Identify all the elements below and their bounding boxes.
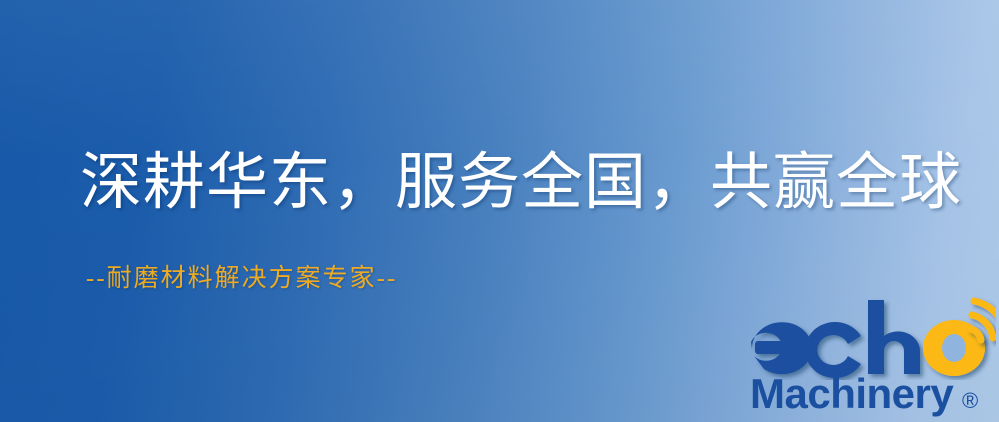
- logo-tagline-machinery: Machinery ®: [750, 370, 996, 420]
- promo-banner: 深耕华东，服务全国，共赢全球 --耐磨材料解决方案专家--: [0, 0, 999, 422]
- logo-letter-h: [868, 300, 920, 374]
- echo-waves-icon: [971, 301, 996, 340]
- banner-headline: 深耕华东，服务全国，共赢全球: [80, 152, 962, 214]
- banner-subtitle: --耐磨材料解决方案专家--: [86, 266, 397, 291]
- logo-letter-e: [751, 322, 812, 374]
- registered-trademark-icon: ®: [962, 388, 978, 413]
- company-logo[interactable]: Machinery ®: [748, 296, 996, 422]
- logo-tagline-text: Machinery: [750, 370, 954, 417]
- logo-wordmark-echo: [748, 296, 996, 380]
